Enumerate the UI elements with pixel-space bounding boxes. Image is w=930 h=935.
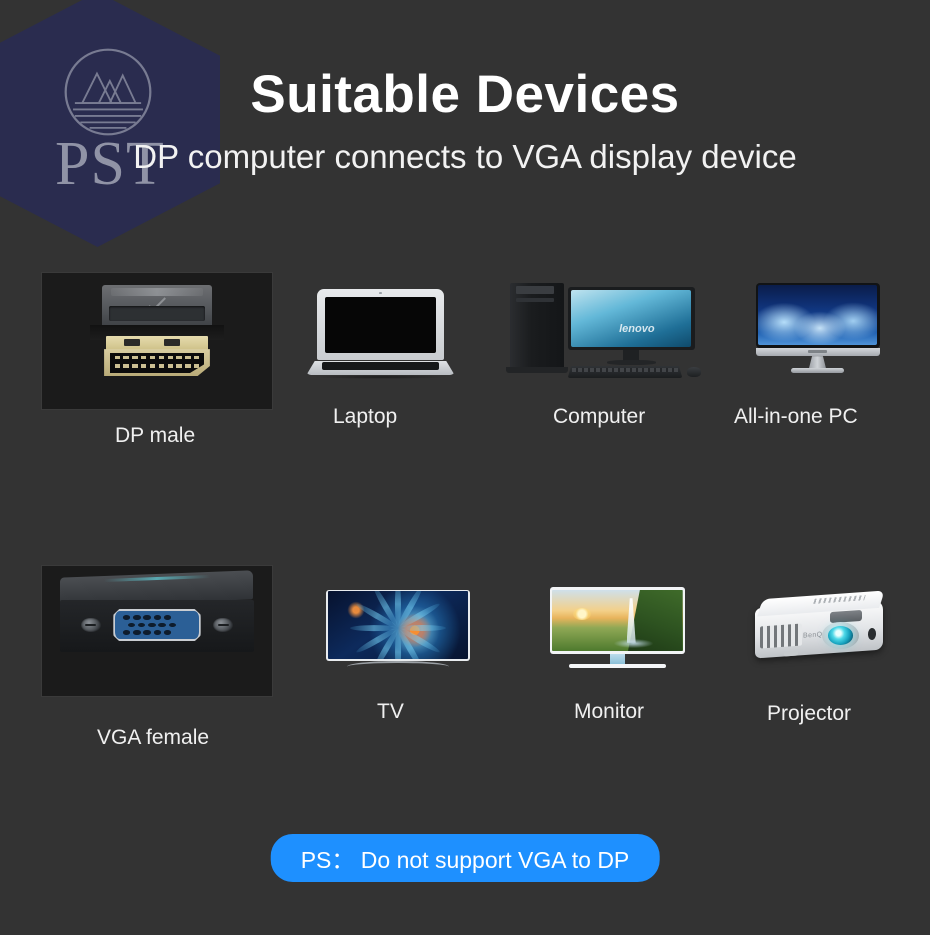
notice-banner: PS： Do not support VGA to DP — [271, 834, 660, 882]
page-title: Suitable Devices — [0, 64, 930, 125]
vga-female-port-photo — [42, 566, 272, 696]
dp-latch-slot — [109, 306, 206, 321]
cell-tv — [318, 578, 478, 693]
laptop-shadow — [312, 375, 448, 378]
projector-vent-grille — [760, 624, 802, 649]
cell-laptop — [303, 280, 458, 395]
projector-lens — [828, 626, 854, 645]
caption-vga-female: VGA female — [97, 726, 209, 750]
caption-laptop: Laptop — [333, 405, 397, 429]
desktop-monitor: lenovo — [568, 287, 695, 350]
cell-projector: BenQ — [742, 578, 902, 696]
monitor-foot — [569, 664, 667, 668]
cell-computer: lenovo — [500, 272, 705, 394]
caption-tv: TV — [377, 700, 404, 724]
projector-foot — [784, 651, 798, 657]
laptop-keyboard — [322, 362, 440, 370]
desktop-monitor-screen: lenovo — [571, 290, 692, 347]
cell-all-in-one-pc — [740, 272, 895, 394]
aio-screen — [758, 285, 877, 345]
aio-foot — [791, 368, 844, 372]
vga-pin-holes — [123, 615, 191, 634]
dp-pin-row-top — [115, 356, 200, 359]
dp-male-connector-photo — [42, 273, 272, 409]
caption-computer: Computer — [553, 405, 645, 429]
monitor-screen — [552, 590, 682, 652]
dp-brand-strip — [111, 288, 203, 296]
aio-chin — [756, 348, 880, 357]
lenovo-logo: lenovo — [619, 323, 654, 335]
cell-monitor — [541, 578, 694, 696]
dp-pin-row-bottom — [115, 364, 200, 367]
desktop-tower — [510, 283, 563, 371]
monitor-bezel — [550, 587, 685, 653]
caption-all-in-one-pc: All-in-one PC — [734, 405, 858, 429]
vga-dsub-port — [113, 609, 200, 642]
aio-bezel — [756, 283, 880, 348]
water-pool — [614, 639, 653, 648]
keyboard-icon — [568, 366, 683, 378]
tower-foot — [506, 367, 568, 373]
cell-dp-male — [42, 273, 272, 409]
page-subtitle: DP computer connects to VGA display devi… — [0, 138, 930, 176]
laptop-lid — [317, 289, 444, 360]
tv-bezel — [326, 590, 470, 661]
tv-flower-image — [328, 591, 469, 659]
vga-screw-left — [81, 618, 101, 632]
dp-pin-block — [110, 353, 204, 373]
caption-dp-male: DP male — [115, 424, 195, 448]
tv-screen — [328, 591, 469, 659]
tv-stand — [347, 661, 449, 667]
webcam-icon — [379, 292, 382, 294]
aio-neck — [809, 356, 826, 368]
cell-vga-female — [42, 566, 272, 696]
monitor-stand — [607, 360, 656, 365]
mouse-icon — [687, 367, 701, 377]
infographic-canvas: PST Suitable Devices DP computer connect… — [0, 0, 930, 935]
caption-projector: Projector — [767, 702, 851, 726]
monitor-neck — [610, 654, 625, 665]
caption-monitor: Monitor — [574, 700, 644, 724]
sun-glow — [573, 608, 591, 620]
laptop-screen — [325, 297, 437, 353]
